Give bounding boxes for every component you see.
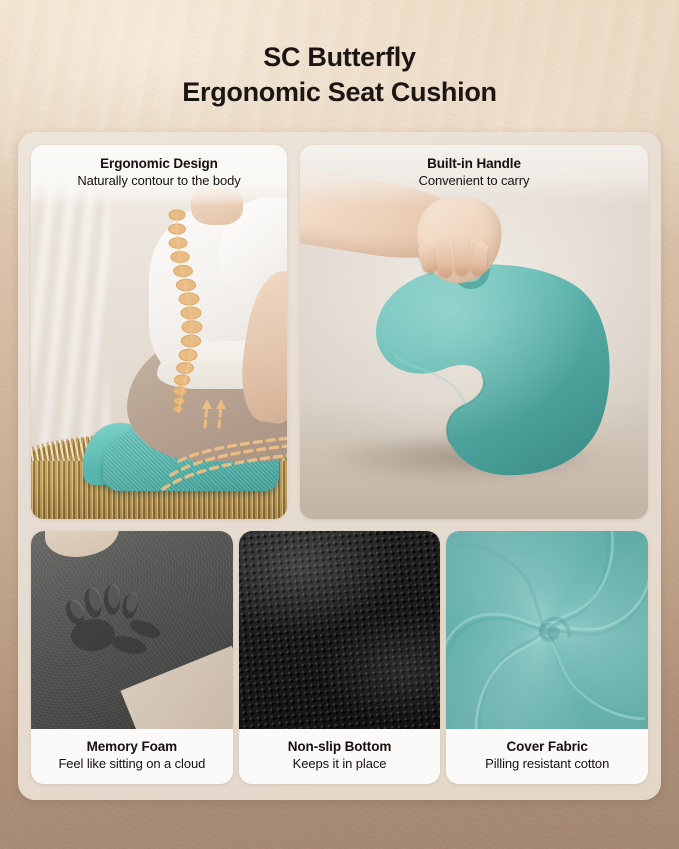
model-fingers (418, 231, 504, 293)
title-line-1: SC Butterfly (0, 40, 679, 75)
feature-card-builtin-handle[interactable]: Built-in Handle Convenient to carry (300, 145, 648, 519)
builtin-handle-heading: Built-in Handle (306, 156, 642, 171)
non-slip-bottom-photo (239, 531, 441, 729)
ergonomic-design-caption: Ergonomic Design Naturally contour to th… (31, 145, 287, 206)
memory-foam-caption: Memory Foam Feel like sitting on a cloud (31, 729, 233, 784)
feature-card-memory-foam[interactable]: Memory Foam Feel like sitting on a cloud (31, 531, 233, 784)
title-line-2: Ergonomic Seat Cushion (0, 75, 679, 110)
handprint-impression-icon (57, 583, 175, 679)
non-slip-bottom-heading: Non-slip Bottom (243, 739, 437, 754)
feature-card-ergonomic-design[interactable]: Ergonomic Design Naturally contour to th… (31, 145, 287, 519)
page-title: SC Butterfly Ergonomic Seat Cushion (0, 40, 679, 110)
cover-fabric-subtext: Pilling resistant cotton (450, 756, 644, 771)
non-slip-bottom-caption: Non-slip Bottom Keeps it in place (239, 729, 441, 784)
top-feature-row: Ergonomic Design Naturally contour to th… (31, 145, 648, 519)
finger (470, 240, 488, 275)
fabric-sheen (446, 531, 648, 729)
finger (433, 238, 453, 278)
feature-card-non-slip-bottom[interactable]: Non-slip Bottom Keeps it in place (239, 531, 441, 784)
memory-foam-heading: Memory Foam (35, 739, 229, 754)
feature-panel: Ergonomic Design Naturally contour to th… (18, 132, 661, 800)
bottom-feature-row: Memory Foam Feel like sitting on a cloud… (31, 531, 648, 784)
cover-fabric-caption: Cover Fabric Pilling resistant cotton (446, 729, 648, 784)
pressure-flow-arrows-icon (127, 397, 287, 497)
finger (453, 237, 469, 276)
cover-fabric-photo (446, 531, 648, 729)
mesh-sheen (239, 531, 441, 729)
memory-foam-photo (31, 531, 233, 729)
spine-illustration-icon (157, 207, 231, 423)
memory-foam-subtext: Feel like sitting on a cloud (35, 756, 229, 771)
feature-card-cover-fabric[interactable]: Cover Fabric Pilling resistant cotton (446, 531, 648, 784)
ergonomic-design-heading: Ergonomic Design (37, 156, 281, 171)
cover-fabric-heading: Cover Fabric (450, 739, 644, 754)
ergonomic-design-subtext: Naturally contour to the body (37, 173, 281, 188)
builtin-handle-subtext: Convenient to carry (306, 173, 642, 188)
non-slip-bottom-subtext: Keeps it in place (243, 756, 437, 771)
builtin-handle-caption: Built-in Handle Convenient to carry (300, 145, 648, 206)
